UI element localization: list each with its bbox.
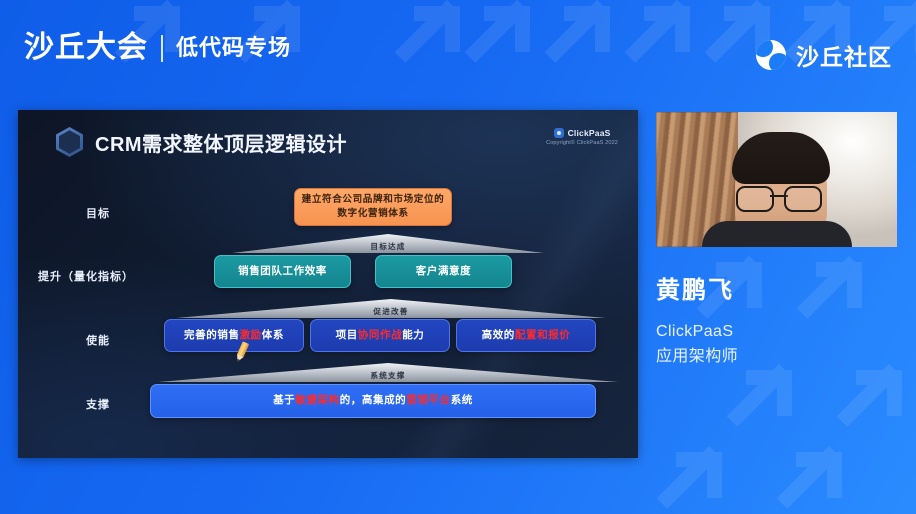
speaker-name: 黄鹏飞 [656, 278, 906, 304]
row-label-support: 支撑 [86, 396, 110, 412]
enable-box-3-text: 高效的配置和报价 [482, 328, 571, 343]
speaker-video-feed[interactable] [656, 112, 897, 247]
enable-box-1-text: 完善的销售激励体系 [184, 328, 284, 343]
band-goal-reach: 目标达成 [232, 234, 544, 253]
glasses-lens-left [736, 186, 774, 212]
event-brand: 沙丘大会 低代码专场 [24, 33, 291, 63]
clickpaas-copyright: Copyright© ClickPaaS 2022 [546, 140, 618, 146]
slide-title: CRM需求整体顶层逻辑设计 [56, 127, 347, 157]
band-promote-improve: 促进改善 [176, 299, 606, 318]
row-label-enable: 使能 [86, 332, 110, 348]
band-system-support-label: 系统支撑 [158, 370, 618, 381]
event-subtitle: 低代码专场 [176, 37, 291, 59]
hexagon-icon [56, 127, 83, 157]
support-box-text: 基于敏捷架构的，高集成的营销平台系统 [273, 393, 473, 408]
arrow-watermark-icon [660, 452, 722, 514]
event-header: 沙丘大会 低代码专场 沙丘社区 [0, 0, 916, 104]
brand-divider [161, 35, 163, 62]
improve-box-1: 销售团队工作效率 [214, 255, 351, 288]
enable-box-2: 项目协同作战能力 [310, 319, 450, 352]
community-logo: 沙丘社区 [756, 38, 892, 72]
glasses-lens-right [784, 186, 822, 212]
arrow-watermark-icon [780, 452, 842, 514]
band-promote-improve-label: 促进改善 [176, 306, 606, 317]
shaqiu-logo-icon [756, 40, 786, 70]
improve-box-2: 客户满意度 [375, 255, 512, 288]
clickpaas-logo-icon [554, 128, 564, 138]
enable-box-2-text: 项目协同作战能力 [336, 328, 425, 343]
speaker-role: 应用架构师 [656, 345, 906, 370]
clickpaas-branding: ClickPaaS Copyright© ClickPaaS 2022 [546, 128, 618, 146]
speaker-hair [732, 132, 830, 184]
event-title: 沙丘大会 [24, 33, 148, 63]
support-box: 基于敏捷架构的，高集成的营销平台系统 [150, 384, 596, 418]
row-label-improve: 提升（量化指标） [38, 268, 134, 284]
slide-title-text: CRM需求整体顶层逻辑设计 [95, 128, 347, 157]
community-logo-label: 沙丘社区 [796, 38, 892, 72]
speaker-torso [702, 221, 852, 247]
glasses-icon [736, 186, 822, 208]
enable-box-3: 高效的配置和报价 [456, 319, 596, 352]
arrow-watermark-icon [730, 370, 792, 432]
row-label-goal: 目标 [86, 205, 110, 221]
slide-canvas: CRM需求整体顶层逻辑设计 ClickPaaS Copyright© Click… [18, 110, 638, 458]
enable-box-1: 完善的销售激励体系 [164, 319, 304, 352]
presentation-stage: 沙丘大会 低代码专场 沙丘社区 CRM需求整体顶层逻辑设计 ClickPaaS … [0, 0, 916, 514]
clickpaas-name: ClickPaaS [568, 128, 611, 138]
speaker-info: 黄鹏飞 ClickPaaS 应用架构师 [656, 278, 906, 370]
band-system-support: 系统支撑 [158, 363, 618, 382]
arrow-watermark-icon [840, 370, 902, 432]
band-goal-reach-label: 目标达成 [232, 241, 544, 252]
speaker-company: ClickPaaS [656, 320, 906, 345]
goal-box: 建立符合公司品牌和市场定位的数字化营销体系 [294, 188, 452, 226]
